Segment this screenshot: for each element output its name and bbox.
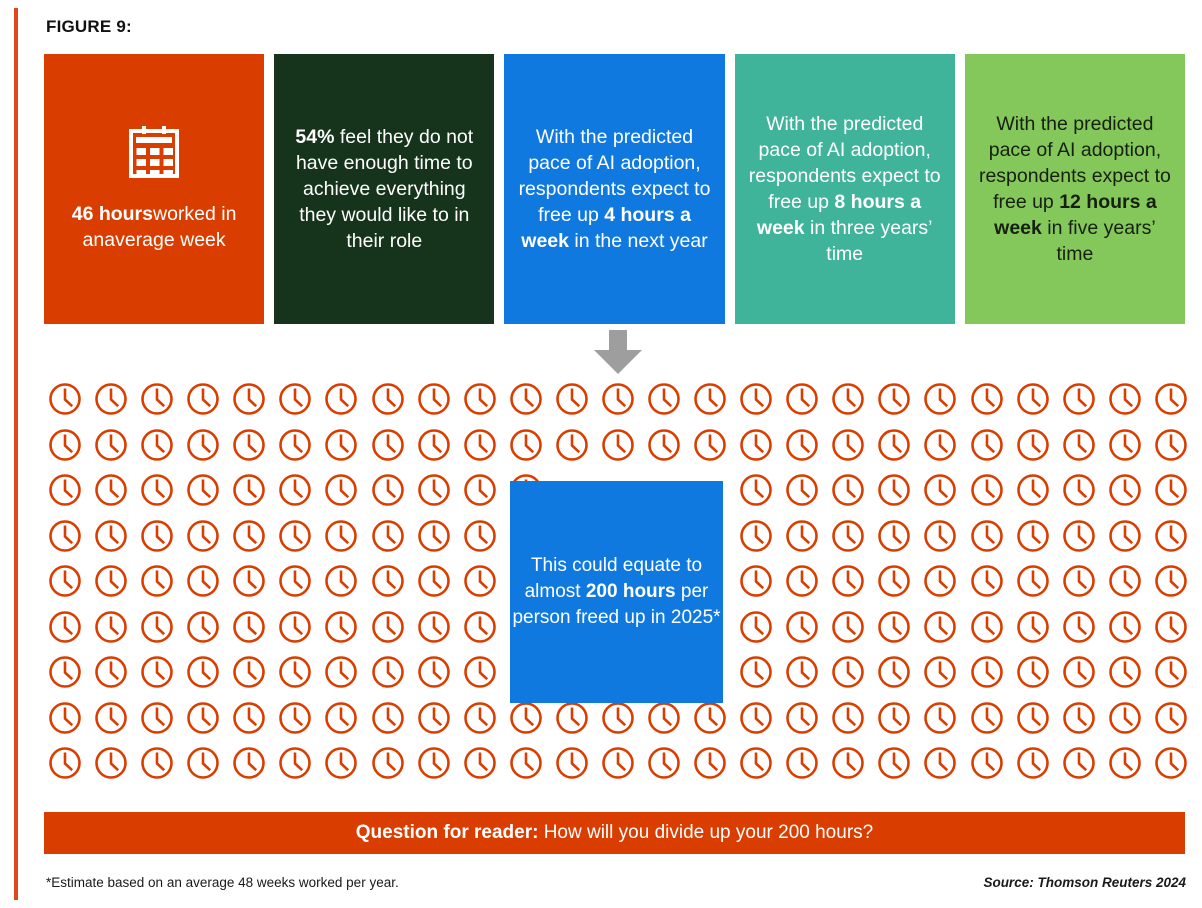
clock-icon <box>831 746 865 780</box>
clock-icon <box>371 382 405 416</box>
clock-icon <box>371 473 405 507</box>
clock-icon <box>555 701 589 735</box>
clock-icon <box>463 746 497 780</box>
clock-icon <box>923 519 957 553</box>
clock-icon <box>739 473 773 507</box>
clock-icon <box>140 610 174 644</box>
clock-icon <box>278 746 312 780</box>
clock-icon <box>739 564 773 598</box>
clock-icon <box>232 701 266 735</box>
clock-icon <box>1062 564 1096 598</box>
clock-icon <box>463 519 497 553</box>
clock-icon <box>48 701 82 735</box>
clock-icon <box>140 428 174 462</box>
clock-icon <box>140 746 174 780</box>
clock-icon <box>647 746 681 780</box>
stat-card-not-enough-time: 54% feel they do not have enough time to… <box>274 54 494 324</box>
clock-icon <box>970 610 1004 644</box>
clock-icon <box>831 473 865 507</box>
clock-icon <box>48 564 82 598</box>
clock-icon <box>785 428 819 462</box>
clock-icon <box>1154 746 1188 780</box>
clock-icon <box>877 746 911 780</box>
clock-icon <box>186 428 220 462</box>
clock-icon <box>371 655 405 689</box>
clock-icon <box>970 746 1004 780</box>
clock-icon <box>1062 473 1096 507</box>
clock-icon <box>324 746 358 780</box>
clock-row <box>48 746 1188 792</box>
clock-icon <box>1062 382 1096 416</box>
clock-icon <box>186 655 220 689</box>
clock-icon <box>186 473 220 507</box>
clock-icon <box>785 382 819 416</box>
clock-icon <box>647 382 681 416</box>
clock-icon <box>232 473 266 507</box>
clock-icon <box>785 473 819 507</box>
question-for-reader-banner: Question for reader: How will you divide… <box>44 812 1185 854</box>
clock-icon <box>1108 564 1142 598</box>
clock-icon <box>324 655 358 689</box>
clock-icon <box>509 382 543 416</box>
clock-icon <box>970 519 1004 553</box>
clock-icon <box>186 564 220 598</box>
emphasis-text: 200 hours <box>586 581 676 602</box>
200-hours-callout: This could equate to almost 200 hours pe… <box>510 481 723 703</box>
clock-icon <box>94 519 128 553</box>
clock-icon <box>278 564 312 598</box>
left-accent-rule <box>14 8 18 900</box>
clock-icon <box>1154 473 1188 507</box>
clock-icon <box>1016 564 1050 598</box>
clock-icon <box>1016 746 1050 780</box>
clock-icon <box>48 610 82 644</box>
clock-icon <box>601 428 635 462</box>
clock-icon <box>371 564 405 598</box>
clock-icon <box>785 701 819 735</box>
footnote-text: *Estimate based on an average 48 weeks w… <box>46 875 399 890</box>
stat-card-text: 46 hoursworked in anaverage week <box>54 201 254 253</box>
clock-icon <box>785 746 819 780</box>
clock-icon <box>48 655 82 689</box>
clock-icon <box>324 473 358 507</box>
clock-icon <box>324 564 358 598</box>
clock-icon <box>877 519 911 553</box>
clock-icon <box>417 746 451 780</box>
clock-icon <box>877 382 911 416</box>
emphasis-text: 46 hours <box>72 203 153 225</box>
stat-card-free-up-next-year: With the predicted pace of AI adoption, … <box>504 54 724 324</box>
clock-icon <box>647 701 681 735</box>
clock-icon <box>877 655 911 689</box>
clock-icon <box>278 519 312 553</box>
clock-icon <box>140 564 174 598</box>
stat-card-text: With the predicted pace of AI adoption, … <box>514 124 714 254</box>
clock-icon <box>94 428 128 462</box>
clock-icon <box>555 746 589 780</box>
clock-icon <box>94 473 128 507</box>
clock-icon <box>417 382 451 416</box>
clock-icon <box>463 428 497 462</box>
clock-icon <box>278 655 312 689</box>
clock-icon <box>970 701 1004 735</box>
clock-icon <box>232 746 266 780</box>
clock-icon <box>417 519 451 553</box>
clock-icon <box>509 428 543 462</box>
clock-icon <box>923 610 957 644</box>
clock-icon <box>324 701 358 735</box>
clock-icon <box>1062 610 1096 644</box>
clock-icon <box>923 746 957 780</box>
clock-icon <box>278 473 312 507</box>
clock-icon <box>140 382 174 416</box>
clock-row <box>48 382 1188 428</box>
clock-icon <box>739 382 773 416</box>
clock-icon <box>739 519 773 553</box>
emphasis-text: Question for reader: <box>356 822 539 843</box>
clock-icon <box>463 382 497 416</box>
clock-icon <box>923 428 957 462</box>
clock-icon <box>970 655 1004 689</box>
clock-icon <box>693 746 727 780</box>
figure-label: FIGURE 9: <box>46 17 132 37</box>
clock-icon <box>1108 701 1142 735</box>
body-text: average week <box>104 229 225 251</box>
clock-icon <box>1062 428 1096 462</box>
clock-icon <box>48 519 82 553</box>
clock-icon <box>140 519 174 553</box>
clock-icon <box>463 701 497 735</box>
stat-card-text: 54% feel they do not have enough time to… <box>284 124 484 254</box>
clock-icon <box>1154 610 1188 644</box>
clock-icon <box>923 473 957 507</box>
clock-icon <box>1016 610 1050 644</box>
down-arrow-icon <box>592 330 644 375</box>
clock-icon <box>232 564 266 598</box>
clock-icon <box>877 610 911 644</box>
clock-icon <box>877 701 911 735</box>
clock-icon <box>94 655 128 689</box>
clock-row <box>48 428 1188 474</box>
clock-icon <box>970 428 1004 462</box>
clock-icon <box>1154 655 1188 689</box>
clock-icon <box>324 382 358 416</box>
body-text: How will you divide up your 200 hours? <box>538 822 873 843</box>
clock-icon <box>785 519 819 553</box>
clock-icon <box>186 610 220 644</box>
clock-icon <box>94 382 128 416</box>
clock-icon <box>371 428 405 462</box>
body-text: in the next year <box>569 230 708 252</box>
clock-icon <box>923 701 957 735</box>
stat-card-free-up-three-years: With the predicted pace of AI adoption, … <box>735 54 955 324</box>
clock-icon <box>1108 610 1142 644</box>
body-text: in five years’ time <box>1042 217 1156 265</box>
clock-icon <box>232 519 266 553</box>
clock-icon <box>278 701 312 735</box>
clock-icon <box>831 382 865 416</box>
clock-icon <box>555 382 589 416</box>
clock-icon <box>48 428 82 462</box>
clock-icon <box>509 746 543 780</box>
clock-icon <box>186 746 220 780</box>
clock-icon <box>693 701 727 735</box>
clock-icon <box>48 382 82 416</box>
clock-icon <box>371 610 405 644</box>
clock-icon <box>1062 701 1096 735</box>
clock-icon <box>923 655 957 689</box>
clock-icon <box>785 610 819 644</box>
callout-text: This could equate to almost 200 hours pe… <box>510 553 723 631</box>
clock-icon <box>509 701 543 735</box>
clock-icon <box>555 428 589 462</box>
clock-icon <box>831 519 865 553</box>
question-banner-text: Question for reader: How will you divide… <box>356 822 873 844</box>
clock-icon <box>831 610 865 644</box>
clock-icon <box>831 701 865 735</box>
clock-icon <box>1016 701 1050 735</box>
clock-icon <box>601 701 635 735</box>
clock-icon <box>831 428 865 462</box>
clock-icon <box>1016 382 1050 416</box>
clock-icon <box>1154 519 1188 553</box>
clock-icon <box>1108 473 1142 507</box>
clock-icon <box>739 746 773 780</box>
clock-icon <box>877 564 911 598</box>
clock-icon <box>1062 655 1096 689</box>
clock-icon <box>140 473 174 507</box>
clock-icon <box>1016 519 1050 553</box>
clock-icon <box>94 564 128 598</box>
clock-icon <box>785 655 819 689</box>
stat-card-text: With the predicted pace of AI adoption, … <box>975 111 1175 267</box>
clock-icon <box>1108 746 1142 780</box>
clock-icon <box>831 655 865 689</box>
clock-icon <box>324 519 358 553</box>
clock-icon <box>1108 519 1142 553</box>
clock-icon <box>1154 564 1188 598</box>
clock-icon <box>48 746 82 780</box>
clock-icon <box>140 655 174 689</box>
clock-icon <box>970 473 1004 507</box>
clock-icon <box>186 382 220 416</box>
clock-icon <box>417 428 451 462</box>
clock-icon <box>232 655 266 689</box>
clock-icon <box>1154 701 1188 735</box>
clock-icon <box>463 655 497 689</box>
clock-icon <box>739 655 773 689</box>
clock-icon <box>923 564 957 598</box>
clock-icon <box>278 428 312 462</box>
calendar-icon <box>127 125 181 179</box>
emphasis-text: 54% <box>295 126 334 148</box>
stat-card-text: With the predicted pace of AI adoption, … <box>745 111 945 267</box>
clock-icon <box>693 428 727 462</box>
clock-icon <box>48 473 82 507</box>
stat-card-free-up-five-years: With the predicted pace of AI adoption, … <box>965 54 1185 324</box>
clock-icon <box>739 610 773 644</box>
body-text: in three years’ time <box>805 217 933 265</box>
clock-icon <box>1016 428 1050 462</box>
clock-row <box>48 701 1188 747</box>
clock-icon <box>186 519 220 553</box>
clock-icon <box>739 701 773 735</box>
clock-icon <box>601 382 635 416</box>
clock-icon <box>232 382 266 416</box>
clock-icon <box>970 382 1004 416</box>
clock-icon <box>417 701 451 735</box>
clock-icon <box>785 564 819 598</box>
clock-icon <box>417 473 451 507</box>
clock-icon <box>877 473 911 507</box>
clock-icon <box>232 610 266 644</box>
clock-icon <box>324 428 358 462</box>
clock-icon <box>186 701 220 735</box>
clock-icon <box>1062 519 1096 553</box>
clock-icon <box>1016 655 1050 689</box>
clock-icon <box>739 428 773 462</box>
stat-card-hours-worked: 46 hoursworked in anaverage week <box>44 54 264 324</box>
clock-icon <box>1108 428 1142 462</box>
clock-icon <box>463 473 497 507</box>
clock-icon <box>371 746 405 780</box>
clock-icon <box>970 564 1004 598</box>
clock-icon <box>232 428 266 462</box>
clock-icon <box>463 564 497 598</box>
clock-icon <box>94 746 128 780</box>
clock-icon <box>1108 382 1142 416</box>
clock-icon <box>693 382 727 416</box>
clock-icon <box>923 382 957 416</box>
clock-icon <box>94 701 128 735</box>
clock-icon <box>601 746 635 780</box>
clock-icon <box>1154 428 1188 462</box>
clock-icon <box>831 564 865 598</box>
clock-icon <box>417 564 451 598</box>
stat-card-row: 46 hoursworked in anaverage week54% feel… <box>44 54 1185 324</box>
clock-icon <box>371 519 405 553</box>
clock-icon <box>463 610 497 644</box>
source-text: Source: Thomson Reuters 2024 <box>983 875 1186 890</box>
clock-icon <box>417 610 451 644</box>
clock-icon <box>417 655 451 689</box>
clock-icon <box>94 610 128 644</box>
clock-icon <box>647 428 681 462</box>
clock-icon <box>1154 382 1188 416</box>
clock-icon <box>278 610 312 644</box>
clock-icon <box>1016 473 1050 507</box>
clock-icon <box>1108 655 1142 689</box>
clock-icon <box>877 428 911 462</box>
clock-icon <box>1062 746 1096 780</box>
clock-icon <box>278 382 312 416</box>
clock-icon <box>371 701 405 735</box>
clock-icon <box>324 610 358 644</box>
clock-icon <box>140 701 174 735</box>
